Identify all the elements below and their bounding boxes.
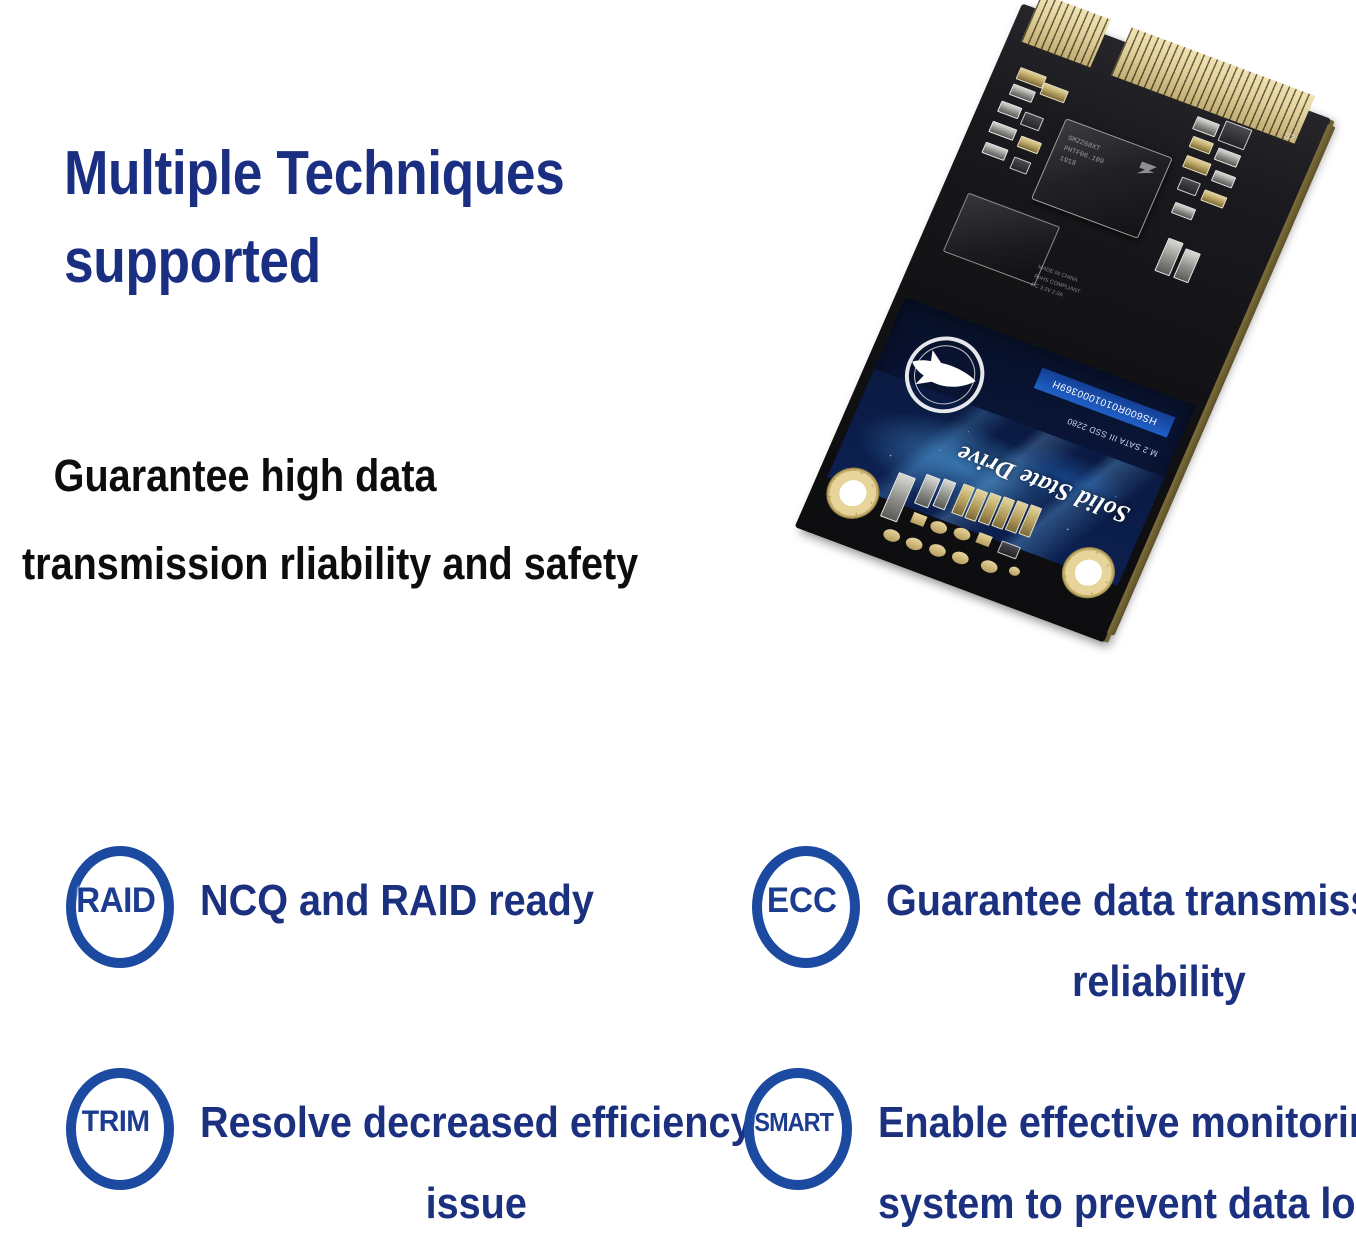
feature-item-ecc: ECC Guarantee data transmission reliabil…	[748, 844, 1348, 1023]
test-pad	[975, 532, 993, 547]
feature-item-smart: SMART Enable effective monitoring system…	[740, 1066, 1350, 1245]
test-pad	[927, 542, 948, 559]
feature-text-ecc: Guarantee data transmission reliability	[886, 844, 1356, 1023]
test-pad	[950, 549, 971, 566]
trim-badge-icon: TRIM	[62, 1068, 170, 1176]
ecc-badge-icon: ECC	[748, 846, 856, 954]
test-pad	[928, 519, 949, 536]
feature-line-2: issue	[200, 1163, 753, 1244]
ssd-product-photo: S2 SM2268XT PHTF06.109 1918 MADE IN CHIN…	[806, 0, 1356, 708]
raid-badge-icon: RAID	[62, 846, 170, 954]
page-title: Multiple Techniques supported	[64, 130, 597, 306]
feature-line-1: NCQ and RAID ready	[200, 860, 594, 941]
page-title-line-2: supported	[64, 218, 597, 306]
mounting-hole-vias	[818, 460, 887, 526]
chip-marking-text: SM2268XT PHTF06.109 1918	[1057, 134, 1109, 178]
feature-item-raid: RAID NCQ and RAID ready	[62, 844, 702, 954]
test-pad	[952, 526, 973, 543]
chip-vendor-logo-icon	[1137, 161, 1157, 179]
ecc-badge-label: ECC	[767, 883, 837, 918]
feature-line-1: Guarantee data transmission	[886, 860, 1356, 941]
feature-line-2: system to prevent data loss	[878, 1163, 1356, 1244]
feature-text-smart: Enable effective monitoring system to pr…	[878, 1066, 1356, 1245]
smd-component	[880, 472, 916, 522]
mounting-hole	[1054, 540, 1123, 606]
trim-badge-label: TRIM	[82, 1107, 150, 1137]
smd-component	[997, 540, 1021, 559]
test-pad	[881, 527, 902, 544]
raid-badge-label: RAID	[76, 883, 155, 918]
ssd-circuit-board: S2 SM2268XT PHTF06.109 1918 MADE IN CHIN…	[795, 3, 1332, 642]
subheading-line-2: transmission rliability and safety	[22, 520, 638, 608]
test-pad	[1007, 565, 1021, 577]
test-pad	[904, 535, 925, 552]
feature-line-1: Enable effective monitoring	[878, 1082, 1356, 1163]
mounting-hole	[818, 460, 887, 526]
test-pad	[910, 512, 928, 527]
feature-text-trim: Resolve decreased efficiency issue	[200, 1066, 753, 1245]
smart-badge-label: SMART	[755, 1109, 834, 1135]
test-pad	[979, 558, 1000, 575]
feature-line-2: reliability	[886, 941, 1356, 1022]
page-title-line-1: Multiple Techniques	[64, 130, 597, 218]
feature-line-1: Resolve decreased efficiency	[200, 1082, 753, 1163]
subheading: Guarantee high data transmission rliabil…	[22, 432, 638, 608]
mounting-hole-vias	[1054, 540, 1123, 606]
feature-text-raid: NCQ and RAID ready	[200, 844, 594, 941]
smart-badge-icon: SMART	[740, 1068, 848, 1176]
subheading-line-1: Guarantee high data	[22, 432, 638, 520]
feature-item-trim: TRIM Resolve decreased efficiency issue	[62, 1066, 722, 1245]
feature-list: RAID NCQ and RAID ready ECC Guarantee da…	[0, 826, 1356, 1229]
